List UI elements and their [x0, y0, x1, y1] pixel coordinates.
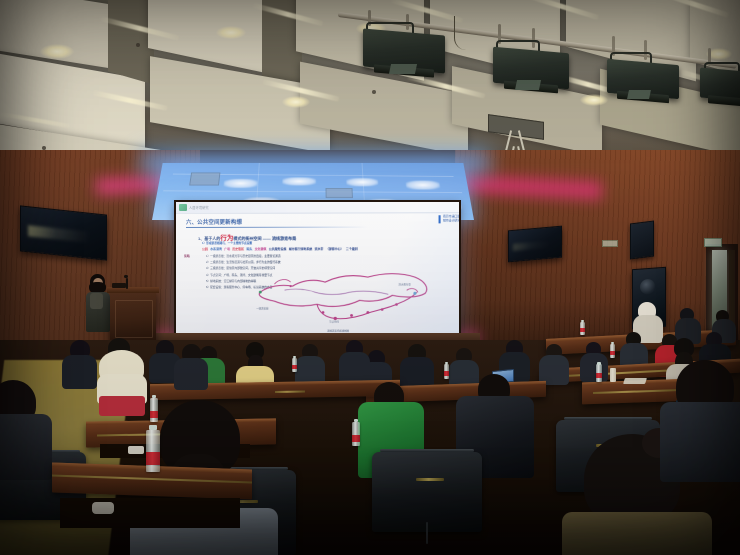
slide-map-diagram: 一级游览线 滨水观光带 节点空间	[254, 262, 437, 325]
desk-shelf	[60, 498, 240, 528]
slide-topbar: 人居环境研究	[176, 202, 459, 214]
podium-device	[112, 283, 126, 288]
red-garment	[99, 396, 145, 416]
slide-tag-row: 公园水系港湾广场历史街区码头文化建筑公共服务设施城市客厅绿地系统滨水带（游客中心…	[202, 247, 360, 251]
slide-corner-badge: 南京市浦口区 城市设计研究	[439, 215, 459, 223]
slide-secondary-line: 1）形成游览线路与、一个主要的节点设置	[202, 241, 252, 245]
ceiling-downlight	[216, 26, 246, 39]
slide-tag: 三个级别	[346, 247, 358, 251]
slide-side-label: 策略	[184, 254, 190, 258]
wall-tv-left	[20, 205, 107, 260]
slide-logo-icon	[179, 204, 187, 211]
slide-logo-text: 人居环境研究	[189, 204, 209, 209]
bag-under-desk	[128, 446, 144, 454]
slide-tag: 文化建筑	[255, 247, 267, 251]
chair-leg	[426, 522, 428, 544]
slide-tag: 城市客厅绿地系统	[289, 247, 312, 251]
wall-tv-right	[508, 226, 562, 263]
water-bottle	[292, 358, 297, 372]
water-bottle	[352, 422, 360, 446]
slide-tag: 码头	[246, 247, 252, 251]
slide-bullet: 5）绿地系统：沿江绿带与内部绿地的串联	[206, 279, 256, 283]
slide-header: 六、公共空间更新构想	[186, 218, 242, 226]
slide-bullet: 1）一级游览线：滨水观光带与历史街区的连接，主要游览通道	[206, 254, 281, 258]
slide-tag: 广场	[224, 247, 230, 251]
exit-sign	[704, 238, 722, 247]
map-note-bottom: 节点空间	[329, 319, 339, 323]
ceiling-downlight	[282, 96, 310, 108]
wall-speaker-right	[630, 221, 654, 260]
map-note-right: 滨水观光带	[399, 282, 411, 286]
lecture-hall-photo: 人居环境研究 六、公共空间更新构想 南京市浦口区 城市设计研究 1、基于人的行为…	[0, 0, 740, 555]
water-bottle	[150, 398, 158, 422]
slide-tag: 历史街区	[232, 247, 244, 251]
smoke-detector-icon	[136, 43, 140, 47]
slide-tag: （游客中心）	[326, 247, 344, 251]
ceiling-downlight	[40, 44, 74, 59]
water-bottle	[146, 430, 160, 472]
chair	[372, 452, 482, 532]
slide-tag: 滨水带	[315, 247, 324, 251]
slide-tag: 公园	[202, 247, 208, 251]
map-note-left: 一级游览线	[256, 306, 268, 310]
slide-tag: 水系港湾	[210, 247, 222, 251]
slide-tag: 公共服务设施	[269, 247, 287, 251]
shoe	[92, 502, 114, 514]
projection-screen[interactable]: 人居环境研究 六、公共空间更新构想 南京市浦口区 城市设计研究 1、基于人的行为…	[176, 202, 459, 333]
wall-sign-left	[602, 240, 618, 247]
